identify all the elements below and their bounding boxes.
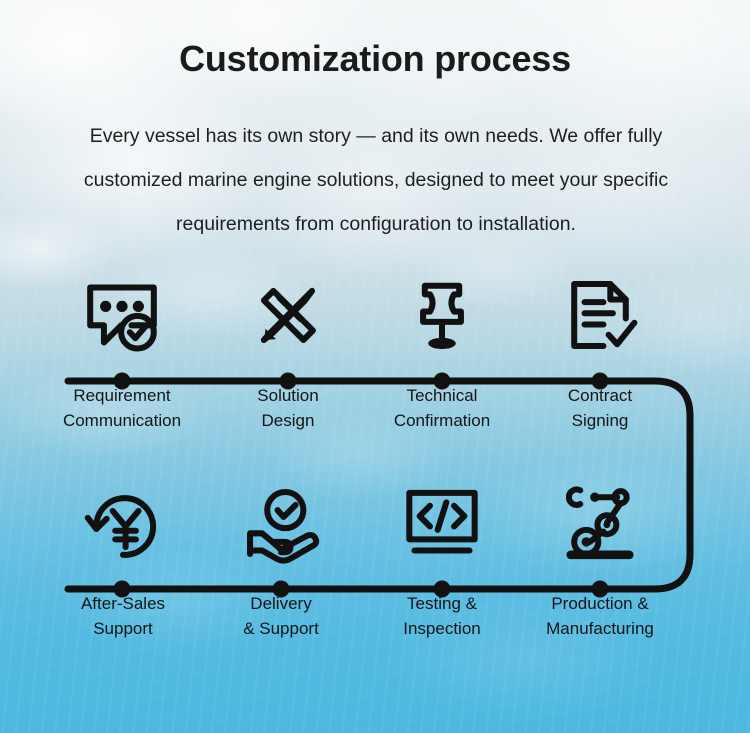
robot-arm-icon bbox=[515, 480, 685, 566]
flow-step-testing-inspection[interactable]: Testing & Inspection bbox=[357, 480, 527, 641]
document-check-icon bbox=[515, 272, 685, 358]
flow-step-label: Requirement Communication bbox=[37, 383, 207, 433]
page-content: Customization process Every vessel has i… bbox=[0, 0, 750, 733]
flow-step-after-sales-support[interactable]: After-Sales Support bbox=[38, 480, 208, 641]
chat-check-icon bbox=[37, 272, 207, 358]
flow-step-technical-confirmation[interactable]: Technical Confirmation bbox=[357, 272, 527, 433]
flow-step-label: Delivery & Support bbox=[196, 591, 366, 641]
flow-step-label: Testing & Inspection bbox=[357, 591, 527, 641]
flow-step-label: Technical Confirmation bbox=[357, 383, 527, 433]
page-title: Customization process bbox=[0, 38, 750, 80]
flow-step-label: Production & Manufacturing bbox=[515, 591, 685, 641]
flow-step-solution-design[interactable]: Solution Design bbox=[203, 272, 373, 433]
page-intro-paragraph: Every vessel has its own story — and its… bbox=[56, 114, 696, 246]
pencil-ruler-icon bbox=[203, 272, 373, 358]
flow-step-label: After-Sales Support bbox=[38, 591, 208, 641]
flow-step-production-manufacturing[interactable]: Production & Manufacturing bbox=[515, 480, 685, 641]
hand-check-icon bbox=[196, 480, 366, 566]
flow-step-delivery-support[interactable]: Delivery & Support bbox=[196, 480, 366, 641]
flow-step-contract-signing[interactable]: Contract Signing bbox=[515, 272, 685, 433]
flow-step-requirement-communication[interactable]: Requirement Communication bbox=[37, 272, 207, 433]
flow-step-label: Contract Signing bbox=[515, 383, 685, 433]
process-flow-diagram: Requirement Communication Solution Desig… bbox=[0, 262, 750, 682]
pushpin-icon bbox=[357, 272, 527, 358]
code-monitor-icon bbox=[357, 480, 527, 566]
yen-refund-icon bbox=[38, 480, 208, 566]
flow-step-label: Solution Design bbox=[203, 383, 373, 433]
